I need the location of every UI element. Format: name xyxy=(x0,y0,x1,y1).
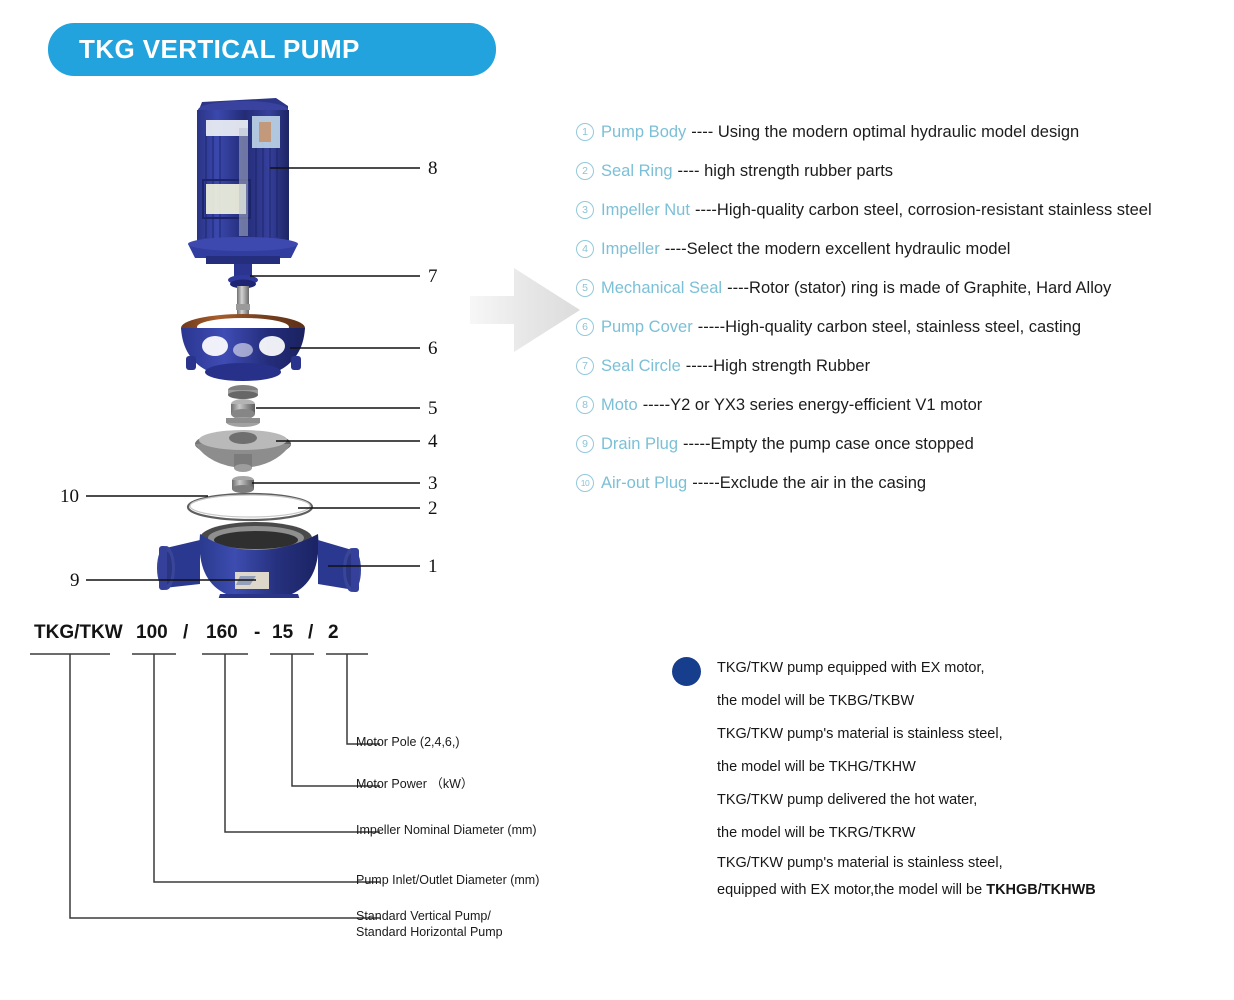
variant-line-last: equipped with EX motor,the model will be… xyxy=(717,877,1192,904)
variant-last-model: TKHGB/TKHWB xyxy=(986,882,1096,898)
legend-part-desc: -----High strength Rubber xyxy=(686,357,870,376)
svg-text:1: 1 xyxy=(428,556,438,577)
legend-part-name: Impeller xyxy=(601,240,660,259)
legend-part-name: Pump Cover xyxy=(601,318,693,337)
legend-part-desc: ----Rotor (stator) ring is made of Graph… xyxy=(727,279,1111,298)
legend-part-desc: ---- Using the modern optimal hydraulic … xyxy=(691,123,1079,142)
variant-line: TKG/TKW pump's material is stainless ste… xyxy=(717,850,1192,877)
page-title-banner: TKG VERTICAL PUMP xyxy=(48,23,496,76)
svg-text:2: 2 xyxy=(428,498,438,519)
legend-part-name: Moto xyxy=(601,396,638,415)
legend-item-5: 5 Mechanical Seal ----Rotor (stator) rin… xyxy=(576,279,1226,318)
model-variants-block: TKG/TKW pump equipped with EX motor, the… xyxy=(672,652,1192,904)
impeller xyxy=(195,430,291,472)
legend-number-icon: 10 xyxy=(576,474,594,492)
legend-part-desc: -----Y2 or YX3 series energy-efficient V… xyxy=(643,396,983,415)
legend-part-desc: -----High-quality carbon steel, stainles… xyxy=(698,318,1081,337)
legend-number-icon: 4 xyxy=(576,240,594,258)
variant-line: TKG/TKW pump equipped with EX motor, xyxy=(717,652,1192,685)
legend-item-2: 2 Seal Ring ---- high strength rubber pa… xyxy=(576,162,1226,201)
nomen-label-inlet-outlet-diameter: Pump Inlet/Outlet Diameter (mm) xyxy=(356,872,539,888)
nomen-label-motor-pole: Motor Pole (2,4,6,) xyxy=(356,734,460,750)
legend-part-desc: ----High-quality carbon steel, corrosion… xyxy=(695,201,1152,220)
legend-number-icon: 1 xyxy=(576,123,594,141)
legend-number-icon: 5 xyxy=(576,279,594,297)
legend-number-icon: 8 xyxy=(576,396,594,414)
parts-legend: 1 Pump Body ---- Using the modern optima… xyxy=(576,123,1226,513)
legend-part-name: Impeller Nut xyxy=(601,201,690,220)
legend-item-8: 8 Moto -----Y2 or YX3 series energy-effi… xyxy=(576,396,1226,435)
legend-item-10: 10 Air-out Plug -----Exclude the air in … xyxy=(576,474,1226,513)
legend-part-name: Air-out Plug xyxy=(601,474,687,493)
svg-text:3: 3 xyxy=(428,473,438,494)
product-info-sheet: TKG VERTICAL PUMP xyxy=(0,0,1234,1000)
legend-item-7: 7 Seal Circle -----High strength Rubber xyxy=(576,357,1226,396)
legend-part-desc: ---- high strength rubber parts xyxy=(678,162,894,181)
model-nomenclature: TKG/TKW 100 / 160 - 15 / 2 xyxy=(20,620,620,960)
bullet-circle-icon xyxy=(672,657,701,686)
variant-last-prefix: equipped with EX motor,the model will be xyxy=(717,882,986,898)
legend-item-1: 1 Pump Body ---- Using the modern optima… xyxy=(576,123,1226,162)
legend-part-name: Pump Body xyxy=(601,123,686,142)
nomen-label-motor-power: Motor Power （kW） xyxy=(356,776,473,792)
nomen-label-impeller-diameter: Impeller Nominal Diameter (mm) xyxy=(356,822,537,838)
svg-text:10: 10 xyxy=(60,486,79,507)
legend-number-icon: 9 xyxy=(576,435,594,453)
legend-item-6: 6 Pump Cover -----High-quality carbon st… xyxy=(576,318,1226,357)
variant-line: the model will be TKHG/TKHW xyxy=(717,751,1192,784)
pump-body-casing xyxy=(157,522,361,598)
legend-number-icon: 3 xyxy=(576,201,594,219)
svg-text:6: 6 xyxy=(428,338,438,359)
legend-part-name: Seal Circle xyxy=(601,357,681,376)
nomen-label-standard-pump-line2: Standard Horizontal Pump xyxy=(356,924,503,940)
legend-item-9: 9 Drain Plug -----Empty the pump case on… xyxy=(576,435,1226,474)
svg-text:4: 4 xyxy=(428,431,438,452)
svg-text:7: 7 xyxy=(428,266,438,287)
svg-text:5: 5 xyxy=(428,398,438,419)
variant-line: TKG/TKW pump delivered the hot water, xyxy=(717,784,1192,817)
legend-number-icon: 2 xyxy=(576,162,594,180)
page-title: TKG VERTICAL PUMP xyxy=(48,34,360,65)
legend-number-icon: 7 xyxy=(576,357,594,375)
seal-ring-oring xyxy=(188,494,312,520)
variant-line: the model will be TKBG/TKBW xyxy=(717,685,1192,718)
mechanical-seal xyxy=(226,385,260,427)
legend-item-3: 3 Impeller Nut ----High-quality carbon s… xyxy=(576,201,1226,240)
variant-line: TKG/TKW pump's material is stainless ste… xyxy=(717,718,1192,751)
exploded-pump-diagram: 8 7 6 5 4 3 2 10 1 9 xyxy=(60,88,480,598)
legend-part-desc: -----Exclude the air in the casing xyxy=(692,474,926,493)
legend-part-name: Seal Ring xyxy=(601,162,673,181)
nomen-label-standard-pump-line1: Standard Vertical Pump/ xyxy=(356,908,491,924)
legend-part-desc: -----Empty the pump case once stopped xyxy=(683,435,974,454)
legend-part-desc: ----Select the modern excellent hydrauli… xyxy=(665,240,1011,259)
motor-assembly xyxy=(188,98,298,264)
flow-arrow xyxy=(468,252,584,368)
impeller-nut xyxy=(232,476,254,493)
legend-number-icon: 6 xyxy=(576,318,594,336)
pump-cover xyxy=(181,314,305,381)
svg-text:8: 8 xyxy=(428,158,438,179)
svg-text:9: 9 xyxy=(70,570,80,591)
legend-part-name: Drain Plug xyxy=(601,435,678,454)
legend-part-name: Mechanical Seal xyxy=(601,279,722,298)
variant-line: the model will be TKRG/TKRW xyxy=(717,817,1192,850)
nomenclature-leader-lines xyxy=(20,620,380,960)
legend-item-4: 4 Impeller ----Select the modern excelle… xyxy=(576,240,1226,279)
